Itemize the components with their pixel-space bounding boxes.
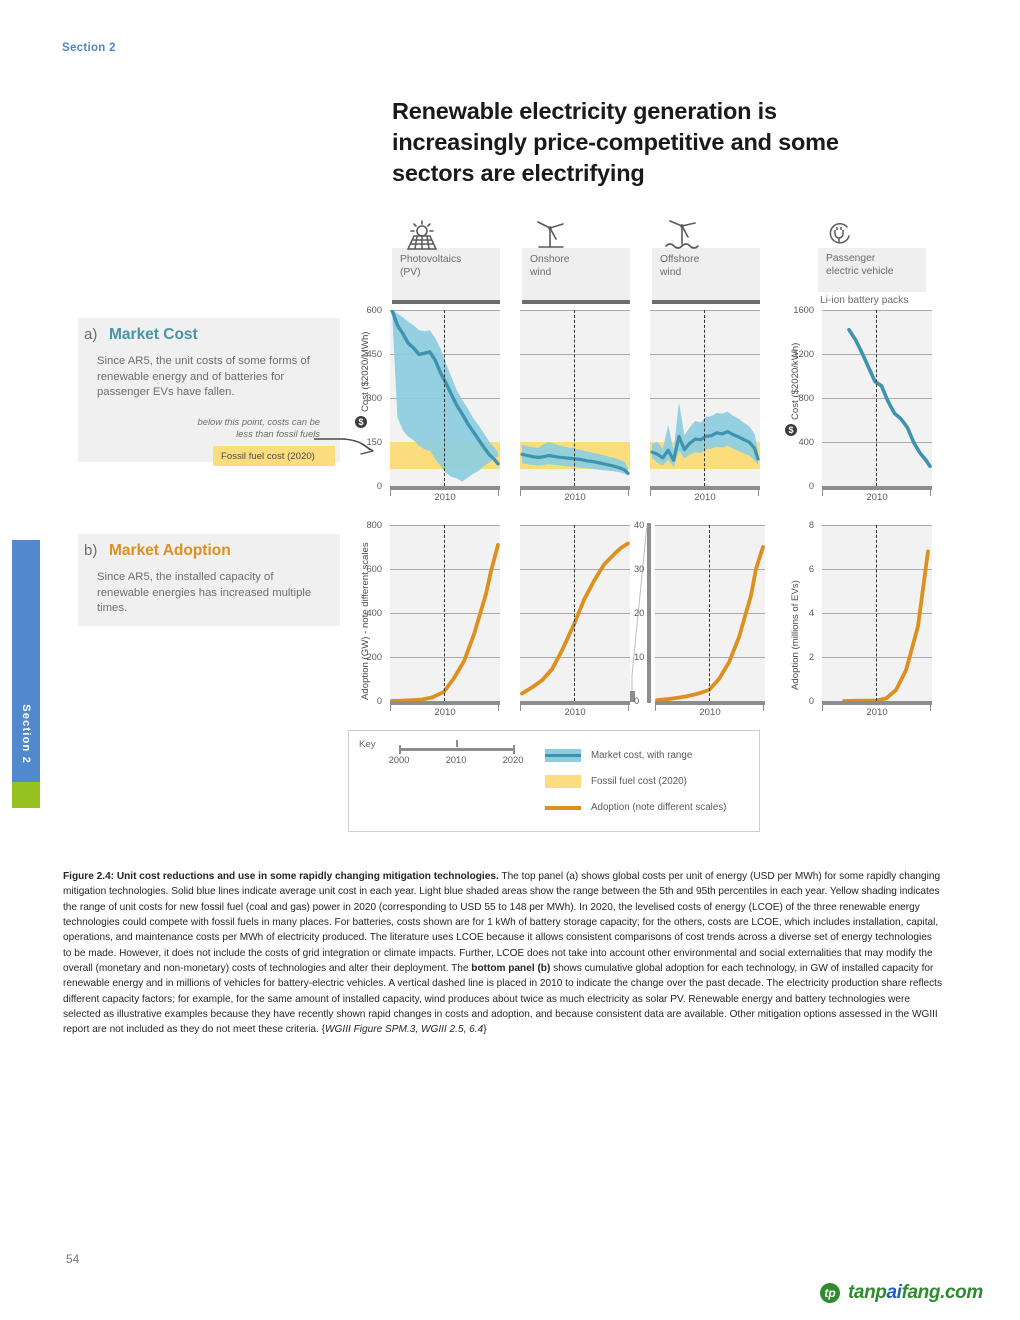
legend-swatch-adoption bbox=[545, 801, 581, 814]
chart-adoption-ev bbox=[822, 525, 932, 701]
ytick: 600 bbox=[348, 305, 382, 315]
chart-adoption-onshore-wind bbox=[520, 525, 630, 701]
legend-label: Adoption (note different scales) bbox=[591, 802, 726, 813]
legend-year-start: 2000 bbox=[379, 754, 419, 765]
ytick: 200 bbox=[348, 652, 382, 662]
battery-panel-title: Li-ion battery packs bbox=[820, 295, 908, 306]
chart-legend: Key 2000 2010 2020 Market cost, with ran… bbox=[348, 730, 760, 832]
caption-bold-2: bottom panel (b) bbox=[471, 963, 550, 974]
ytick: 150 bbox=[348, 437, 382, 447]
ev-adoption-yaxis-title: Adoption (millions of EVs) bbox=[790, 580, 801, 690]
year-2010-marker bbox=[704, 310, 705, 486]
caption-reference: WGIII Figure SPM.3, WGIII 2.5, 6.4 bbox=[325, 1024, 483, 1035]
watermark-text: tanpaifang.com bbox=[848, 1282, 983, 1304]
year-2010-marker bbox=[709, 525, 710, 701]
ytick: 800 bbox=[348, 520, 382, 530]
ytick: 0 bbox=[780, 696, 814, 706]
legend-label: Fossil fuel cost (2020) bbox=[591, 776, 687, 787]
year-2010-marker bbox=[876, 310, 877, 486]
chart-cost-offshore-wind bbox=[650, 310, 760, 486]
ytick: 1200 bbox=[780, 349, 814, 359]
column-header-ev: Passenger electric vehicle bbox=[818, 248, 926, 292]
ytick: 300 bbox=[348, 393, 382, 403]
dollar-icon: $ bbox=[785, 424, 797, 436]
column-label-line2: wind bbox=[530, 267, 622, 280]
ytick: 2 bbox=[780, 652, 814, 662]
column-label-line2: wind bbox=[660, 267, 752, 280]
legend-item-market-cost: Market cost, with range bbox=[545, 749, 692, 762]
watermark-part3: fang.com bbox=[902, 1282, 983, 1303]
column-label-line2: electric vehicle bbox=[826, 266, 918, 279]
panel-b-letter: b) bbox=[84, 542, 97, 559]
report-page: Section 2 Section 2 Renewable electricit… bbox=[0, 0, 1020, 1320]
adoption-pv-xaxis bbox=[390, 701, 500, 705]
year-2010-marker bbox=[574, 310, 575, 486]
column-header-onshore-wind: Onshore wind bbox=[522, 248, 630, 304]
ytick: 400 bbox=[348, 608, 382, 618]
caption-figure-label: Figure 2.4: Unit cost reductions and use… bbox=[63, 871, 499, 882]
fossil-annotation-text: below this point, costs can be less than… bbox=[190, 416, 320, 440]
page-number: 54 bbox=[66, 1252, 79, 1266]
column-label-line2: (PV) bbox=[400, 267, 492, 280]
watermark-part1: tanp bbox=[848, 1282, 887, 1303]
xtick-2010: 2010 bbox=[415, 492, 475, 503]
panel-a-letter: a) bbox=[84, 326, 97, 343]
ytick: 0 bbox=[348, 696, 382, 706]
offshore-wind-turbine-icon bbox=[660, 218, 708, 257]
ytick: 600 bbox=[348, 564, 382, 574]
ytick: 400 bbox=[780, 437, 814, 447]
ytick: 450 bbox=[348, 349, 382, 359]
ytick: 1600 bbox=[780, 305, 814, 315]
panel-a-body: Since AR5, the unit costs of some forms … bbox=[97, 354, 312, 401]
page-title: Renewable electricity generation is incr… bbox=[392, 96, 862, 189]
panel-a-title: Market Cost bbox=[109, 326, 198, 344]
side-tab-accent bbox=[12, 782, 40, 808]
ytick: 0 bbox=[780, 481, 814, 491]
cost-offshore-xaxis bbox=[650, 486, 760, 490]
legend-year-mid: 2010 bbox=[436, 754, 476, 765]
section-label: Section 2 bbox=[62, 42, 116, 54]
year-2010-marker bbox=[876, 525, 877, 701]
legend-label: Market cost, with range bbox=[591, 750, 692, 761]
legend-swatch-fossil-fuel bbox=[545, 775, 581, 788]
panel-b-title: Market Adoption bbox=[109, 542, 231, 560]
wind-turbine-icon bbox=[530, 218, 574, 257]
xtick-2010: 2010 bbox=[415, 707, 475, 718]
side-tab-label: Section 2 bbox=[12, 540, 40, 782]
legend-year-end: 2020 bbox=[493, 754, 533, 765]
legend-swatch-market-cost bbox=[545, 749, 581, 762]
xtick-2010: 2010 bbox=[680, 707, 740, 718]
year-2010-marker bbox=[574, 525, 575, 701]
watermark: tp tanpaifang.com bbox=[820, 1282, 983, 1304]
xtick-2010: 2010 bbox=[847, 492, 907, 503]
column-underline bbox=[392, 300, 500, 304]
chart-cost-pv bbox=[390, 310, 500, 486]
year-2010-marker bbox=[444, 525, 445, 701]
solar-panel-icon bbox=[400, 218, 444, 257]
electric-vehicle-plug-icon bbox=[824, 220, 856, 255]
xtick-2010: 2010 bbox=[545, 707, 605, 718]
cost-onshore-xaxis bbox=[520, 486, 630, 490]
ytick: 6 bbox=[780, 564, 814, 574]
legend-item-adoption: Adoption (note different scales) bbox=[545, 801, 726, 814]
xtick-2010: 2010 bbox=[847, 707, 907, 718]
legend-item-fossil-fuel: Fossil fuel cost (2020) bbox=[545, 775, 687, 788]
cost-battery-xaxis bbox=[822, 486, 932, 490]
adoption-offshore-xaxis bbox=[655, 701, 765, 705]
fossil-fuel-cost-callout: Fossil fuel cost (2020) bbox=[213, 446, 335, 466]
column-underline bbox=[652, 300, 760, 304]
ytick: 4 bbox=[780, 608, 814, 618]
chart-cost-onshore-wind bbox=[520, 310, 630, 486]
caption-text-3: } bbox=[483, 1024, 486, 1035]
adoption-ev-xaxis bbox=[822, 701, 932, 705]
adoption-onshore-xaxis bbox=[520, 701, 630, 705]
column-underline bbox=[522, 300, 630, 304]
caption-text-1: The top panel (a) shows global costs per… bbox=[63, 871, 940, 974]
chart-adoption-offshore-wind bbox=[655, 525, 765, 701]
xtick-2010: 2010 bbox=[545, 492, 605, 503]
figure-caption: Figure 2.4: Unit cost reductions and use… bbox=[63, 869, 943, 1038]
chart-adoption-pv bbox=[390, 525, 500, 701]
legend-key-label: Key bbox=[359, 739, 376, 750]
chart-cost-battery bbox=[822, 310, 932, 486]
watermark-part2: ai bbox=[887, 1282, 902, 1303]
cost-pv-xaxis bbox=[390, 486, 500, 490]
year-2010-marker bbox=[444, 310, 445, 486]
ytick: 800 bbox=[780, 393, 814, 403]
column-header-pv: Photovoltaics (PV) bbox=[392, 248, 500, 304]
xtick-2010: 2010 bbox=[675, 492, 735, 503]
dollar-icon: $ bbox=[355, 416, 367, 428]
column-header-offshore-wind: Offshore wind bbox=[652, 248, 760, 304]
panel-b-body: Since AR5, the installed capacity of ren… bbox=[97, 570, 312, 617]
legend-timescale bbox=[399, 748, 515, 751]
ytick: 8 bbox=[780, 520, 814, 530]
ytick: 0 bbox=[348, 481, 382, 491]
watermark-logo-icon: tp bbox=[820, 1283, 840, 1303]
